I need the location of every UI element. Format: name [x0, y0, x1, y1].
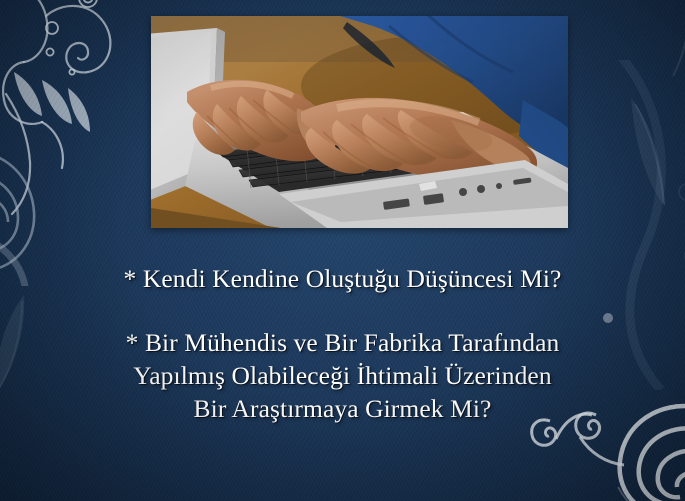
- swirl-flourish-ornament-top-left: [0, 0, 174, 286]
- bullet-line-3: Yapılmış Olabileceği İhtimali Üzerinden: [0, 359, 685, 392]
- presentation-slide: * Kendi Kendine Oluştuğu Düşüncesi Mi? *…: [0, 0, 685, 501]
- leaf-flourish-ornament-top-right: [565, 0, 685, 280]
- bullet-line-2: * Bir Mühendis ve Bir Fabrika Tarafından: [0, 326, 685, 359]
- slide-body-text: * Kendi Kendine Oluştuğu Düşüncesi Mi? *…: [0, 262, 685, 425]
- hands-typing-on-laptop-photo: [151, 16, 568, 228]
- paragraph-spacer: [0, 295, 685, 326]
- bullet-line-1: * Kendi Kendine Oluştuğu Düşüncesi Mi?: [0, 262, 685, 295]
- bullet-line-4: Bir Araştırmaya Girmek Mi?: [0, 392, 685, 425]
